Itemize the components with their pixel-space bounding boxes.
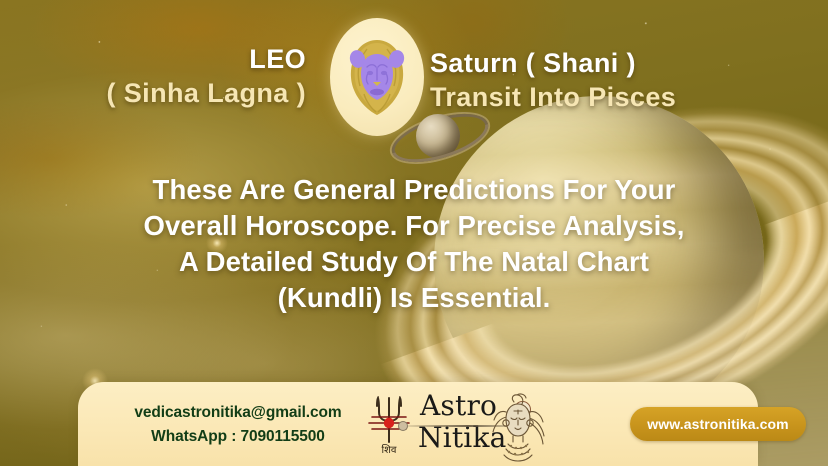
main-message-line: (Kundli) Is Essential. [34,280,794,316]
leo-lion-icon [342,36,412,120]
zodiac-sign-name: LEO [0,44,306,74]
email-text[interactable]: vedicastronitika@gmail.com [100,401,376,425]
website-button[interactable]: www.astronitika.com [630,407,806,441]
header-right-block: Saturn ( Shani ) Transit Into Pisces [430,48,810,113]
zodiac-sign-sanskrit: ( Sinha Lagna ) [0,78,306,109]
poster-canvas: LEO ( Sinha Lagna ) Saturn ( Shani ) Tra… [0,0,828,466]
leo-lion-badge [330,18,424,136]
contact-block: vedicastronitika@gmail.com WhatsApp : 70… [100,401,376,449]
main-message-line: These Are General Predictions For Your [34,172,794,208]
trishul-label: शिव [382,444,397,456]
website-url: www.astronitika.com [647,416,788,432]
footer-bar: vedicastronitika@gmail.com WhatsApp : 70… [78,382,758,466]
shiva-portrait-icon [484,392,552,464]
whatsapp-text[interactable]: WhatsApp : 7090115500 [100,425,376,449]
planet-name: Saturn ( Shani ) [430,48,810,78]
transit-event: Transit Into Pisces [430,82,810,113]
main-message-line: A Detailed Study Of The Natal Chart [34,244,794,280]
brand-logo: शिव Astro Nitika [366,390,576,462]
main-message: These Are General Predictions For Your O… [34,172,794,316]
main-message-line: Overall Horoscope. For Precise Analysis, [34,208,794,244]
header-left-block: LEO ( Sinha Lagna ) [0,44,322,109]
